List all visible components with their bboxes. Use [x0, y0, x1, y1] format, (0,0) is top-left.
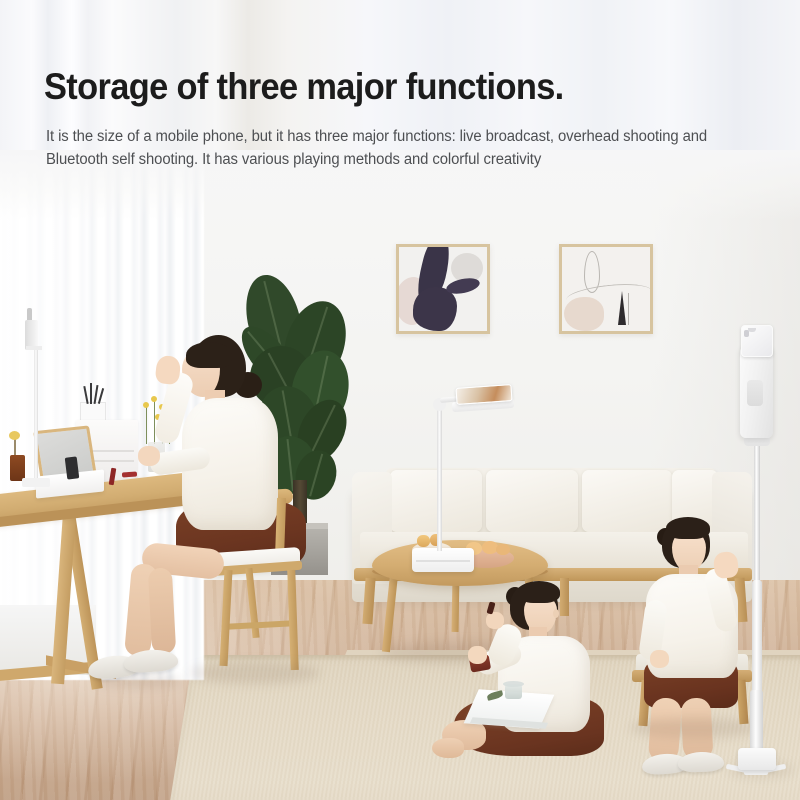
flower-stem: [154, 398, 155, 444]
tripod-base: [738, 748, 776, 770]
sofa-cushion: [486, 470, 578, 532]
product-feature-banner: Storage of three major functions. It is …: [0, 0, 800, 800]
lifestyle-photo: [0, 150, 800, 800]
selfie-stick-segment: [752, 580, 762, 700]
woman-right-shadow: [630, 718, 760, 738]
tripod-foot: [744, 770, 768, 775]
chair-shadow: [190, 662, 320, 684]
selfie-stick-button-panel: [747, 380, 763, 406]
overhead-stand-base-seam: [416, 560, 470, 562]
woman-left-fringe: [186, 342, 232, 368]
woman-left-hand-forward: [138, 446, 160, 466]
overhead-stand-pole: [437, 405, 442, 551]
flower-head: [151, 396, 157, 402]
framed-artwork-left: [396, 244, 490, 334]
flower-stem: [146, 404, 147, 444]
art-dark-blob-3: [445, 276, 481, 297]
woman-right-hand-left: [650, 650, 669, 668]
abstract-line-artwork: [562, 247, 650, 331]
woman-right-waving-hand: [713, 551, 740, 579]
makeup-brush: [90, 383, 92, 404]
art-spike-outline: [628, 293, 638, 325]
sofa-cushion: [390, 470, 482, 532]
pastry: [417, 535, 430, 547]
woman-middle-foot: [432, 738, 464, 758]
abstract-ink-blob-artwork: [399, 247, 487, 331]
clip-stand-base: [22, 478, 50, 487]
window-light-glow: [0, 150, 150, 680]
page-subtitle: It is the size of a mobile phone, but it…: [46, 126, 722, 171]
clip-stand-pole: [34, 350, 38, 482]
framed-artwork-right: [559, 244, 653, 334]
flower-head: [143, 402, 149, 408]
candle-rim: [503, 681, 524, 687]
woman-middle-hand-left: [468, 646, 487, 664]
woman-right-fringe: [666, 517, 710, 539]
decor-twig: [14, 437, 16, 457]
woman-middle-hand-right: [486, 612, 504, 629]
lipstick: [122, 471, 137, 477]
bread-roll: [496, 544, 510, 555]
sofa-leg: [560, 578, 569, 616]
phone-on-desk: [65, 456, 80, 479]
decor-twig-bloom: [9, 431, 20, 440]
art-dark-blob-2: [413, 287, 457, 331]
phone-notch: [748, 328, 756, 332]
slipper: [678, 751, 725, 773]
sofa-cushion: [582, 470, 672, 532]
woman-middle-earring: [553, 609, 559, 618]
woman-left-leg: [148, 567, 176, 654]
page-title: Storage of three major functions.: [44, 68, 564, 105]
woman-middle-fringe: [518, 581, 560, 603]
selfie-stick-segment: [750, 690, 763, 752]
